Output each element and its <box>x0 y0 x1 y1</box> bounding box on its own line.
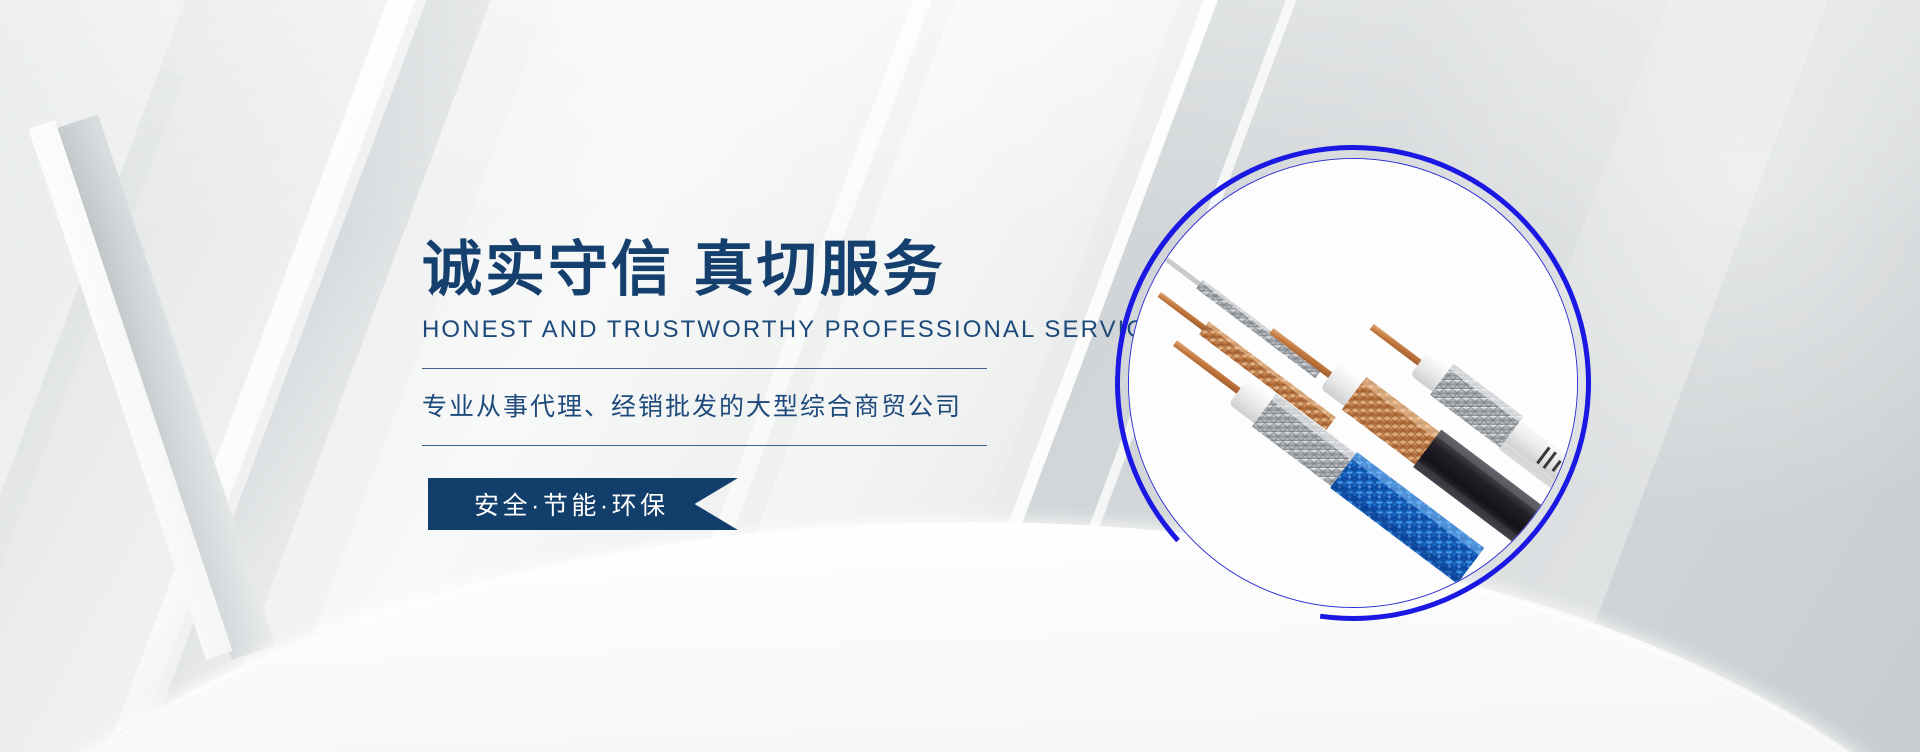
bg-sheen-top <box>0 0 1920 240</box>
bg-floor-edge <box>0 526 1920 752</box>
status-badge-label: 安全·节能·环保 <box>428 478 738 530</box>
bg-panel-left-light <box>0 0 221 752</box>
page-title: 诚实守信 真切服务 <box>422 238 1142 302</box>
divider-top <box>422 368 987 369</box>
hero-copy: 诚实守信 真切服务 HONEST AND TRUSTWORTHY PROFESS… <box>422 238 1142 446</box>
product-medallion <box>1128 158 1578 608</box>
bg-floor <box>0 522 1920 752</box>
bg-slab-left <box>54 114 275 660</box>
divider-bottom <box>422 445 987 446</box>
bg-panel-left-wedge <box>0 0 185 752</box>
hero-banner: 诚实守信 真切服务 HONEST AND TRUSTWORTHY PROFESS… <box>0 0 1920 752</box>
tagline-chinese: 专业从事代理、经销批发的大型综合商贸公司 <box>422 387 1142 423</box>
subtitle-english: HONEST AND TRUSTWORTHY PROFESSIONAL SERV… <box>422 316 1142 344</box>
bg-slab-left-highlight <box>28 120 232 660</box>
